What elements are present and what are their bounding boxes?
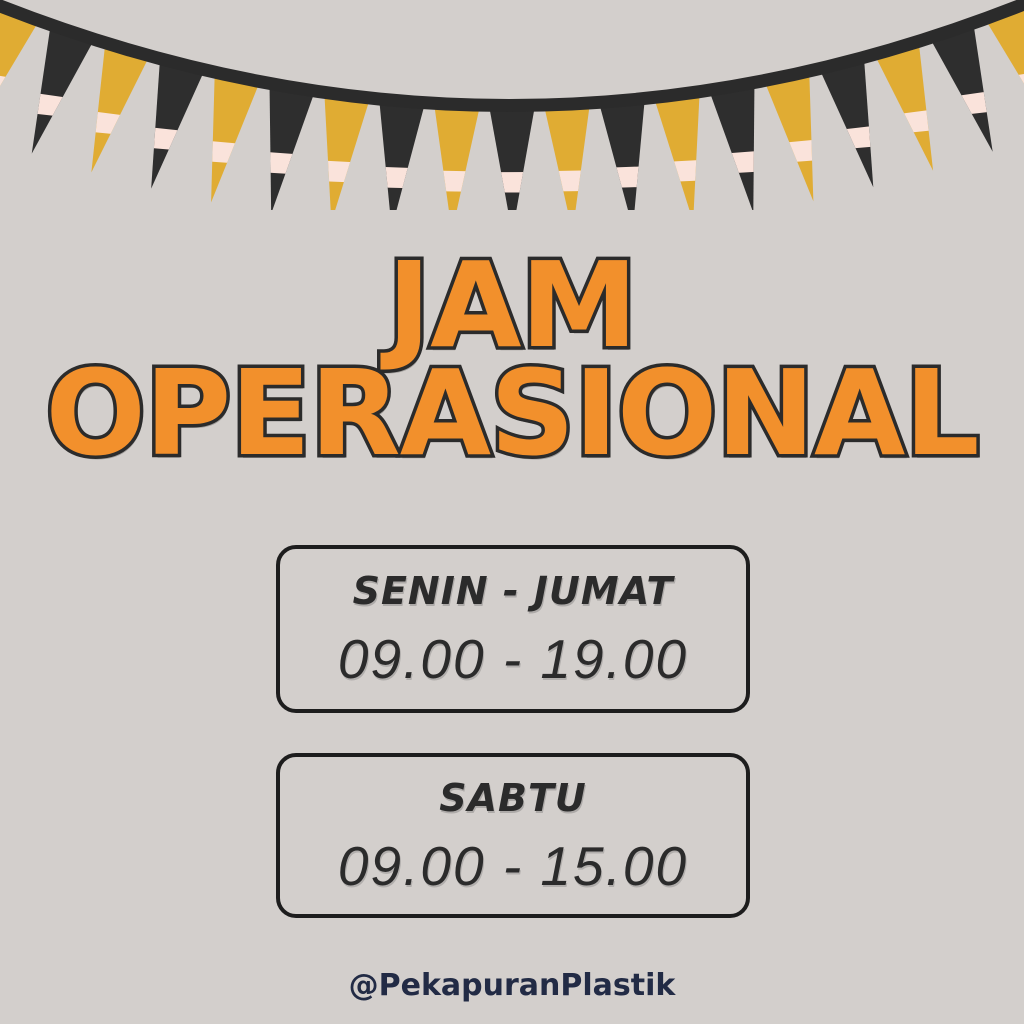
schedule-hours-value: 09.00 - 19.00: [338, 627, 688, 691]
bunting-flag: [314, 93, 370, 210]
schedule-card-saturday: SABTU 09.00 - 15.00: [276, 753, 750, 918]
bunting-string: [0, 0, 1024, 106]
schedule-card-weekday: SENIN - JUMAT 09.00 - 19.00: [276, 545, 750, 713]
schedule-hours-value: 09.00 - 15.00: [338, 834, 688, 898]
bunting-flag: [372, 99, 425, 210]
bunting-flag: [544, 103, 595, 210]
schedule-days-label: SENIN - JUMAT: [353, 569, 674, 613]
bunting-flag: [654, 92, 710, 210]
bunting-flag: [930, 23, 1001, 152]
bunting-flag: [709, 83, 768, 210]
bunting-flag: [819, 58, 884, 188]
schedule-days-label: SABTU: [439, 776, 587, 820]
poster-title: JAM OPERASIONAL: [0, 248, 1024, 471]
social-handle: @PekapuranPlastik: [0, 968, 1024, 1003]
bunting-flag: [256, 84, 315, 210]
bunting-banner-graphic: [0, 0, 1024, 210]
bunting-flag: [198, 72, 260, 202]
bunting-flag: [875, 41, 943, 170]
bunting-flag: [82, 43, 150, 172]
poster-canvas: JAM OPERASIONAL SENIN - JUMAT 09.00 - 19…: [0, 0, 1024, 1024]
title-line-operasional: OPERASIONAL: [0, 356, 1024, 470]
bunting-flag: [429, 104, 480, 210]
bunting-flag: [764, 71, 826, 201]
bunting-flag: [599, 99, 653, 210]
bunting-flag: [24, 25, 94, 154]
bunting-flag: [140, 59, 205, 189]
bunting-flag: [487, 105, 537, 210]
